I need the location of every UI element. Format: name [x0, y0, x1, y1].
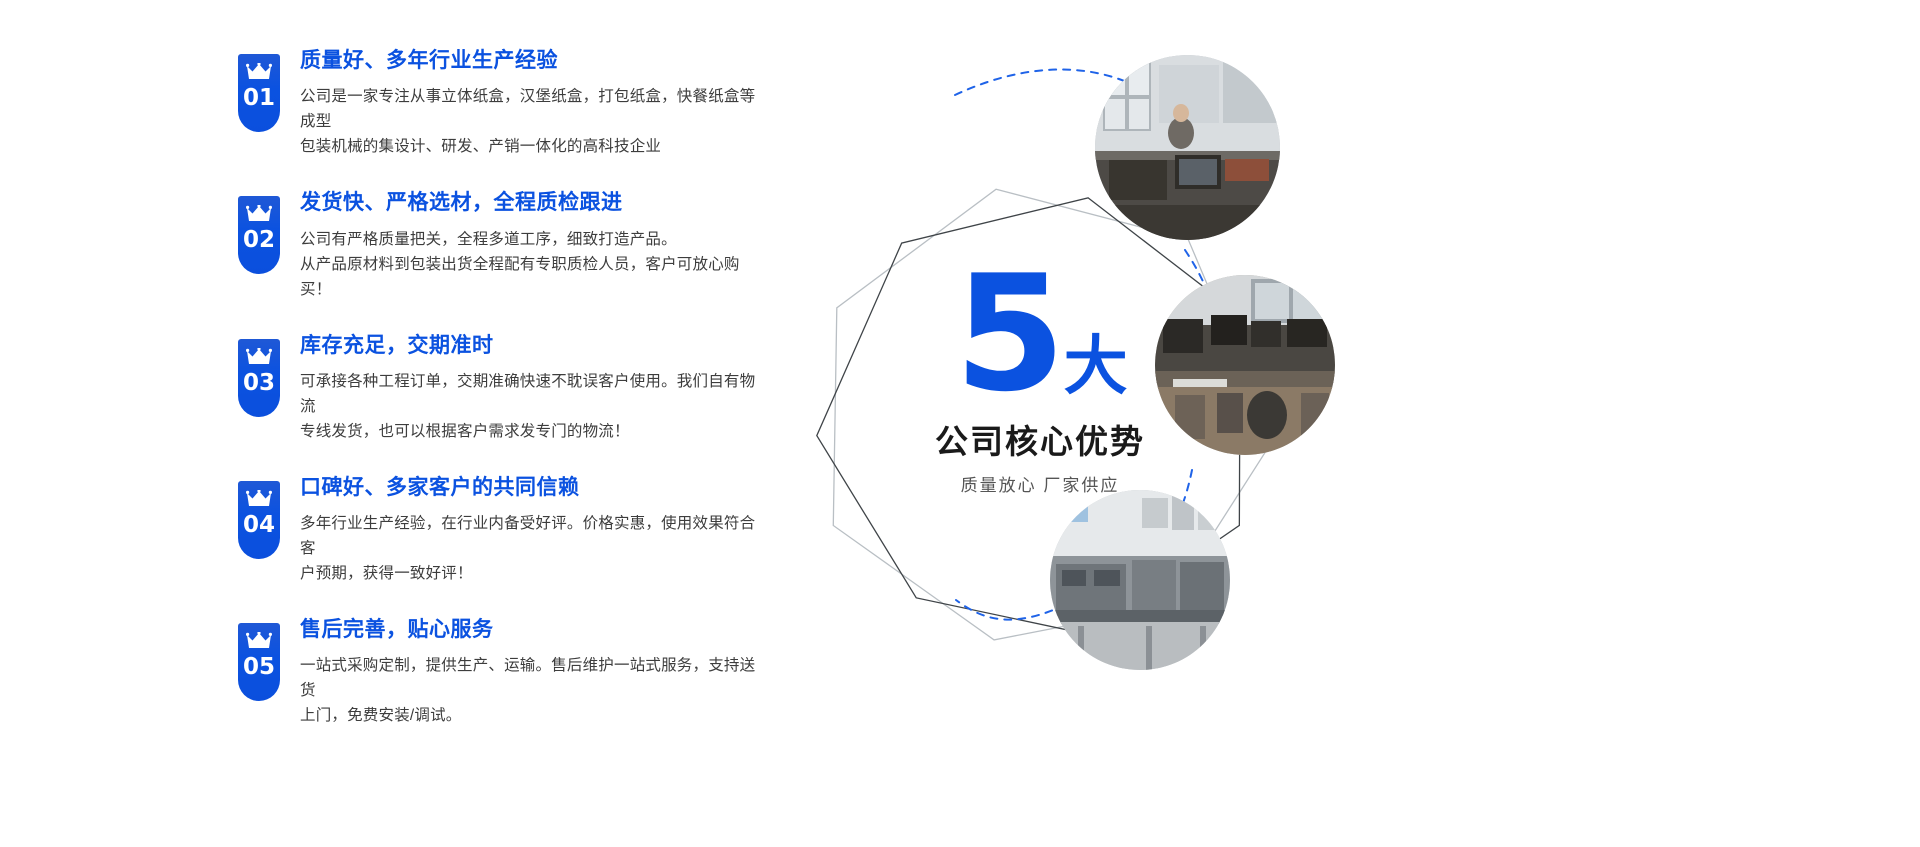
feature-title: 售后完善，贴心服务 — [300, 617, 778, 643]
badge-04: 04 — [238, 481, 280, 559]
feature-body-line-1: 一站式采购定制，提供生产、运输。售后维护一站式服务，支持送货 — [300, 653, 770, 703]
feature-body-line-2: 上门，免费安装/调试。 — [300, 703, 770, 728]
feature-body-line-1: 公司是一家专注从事立体纸盒，汉堡纸盒，打包纸盒，快餐纸盒等成型 — [300, 84, 770, 134]
photo-scene — [1155, 275, 1335, 455]
feature-body-line-2: 从产品原材料到包装出货全程配有专职质检人员，客户可放心购买！ — [300, 252, 770, 302]
feature-body: 公司有严格质量把关，全程多道工序，细致打造产品。 从产品原材料到包装出货全程配有… — [300, 227, 770, 302]
feature-title: 质量好、多年行业生产经验 — [300, 48, 778, 74]
crown-icon — [246, 205, 272, 223]
feature-body: 可承接各种工程订单，交期准确快速不耽误客户使用。我们自有物流 专线发货，也可以根… — [300, 369, 770, 444]
feature-body-line-1: 可承接各种工程订单，交期准确快速不耽误客户使用。我们自有物流 — [300, 369, 770, 419]
badge-number: 04 — [243, 514, 275, 537]
badge-05: 05 — [238, 623, 280, 701]
feature-body-line-2: 包装机械的集设计、研发、产销一体化的高科技企业 — [300, 134, 770, 159]
feature-title: 发货快、严格选材，全程质检跟进 — [300, 190, 778, 216]
feature-body-line-1: 公司有严格质量把关，全程多道工序，细致打造产品。 — [300, 227, 770, 252]
badge-number: 03 — [243, 372, 275, 395]
badge-01: 01 — [238, 54, 280, 132]
feature-title: 库存充足，交期准时 — [300, 333, 778, 359]
feature-item-05: 05 售后完善，贴心服务 一站式采购定制，提供生产、运输。售后维护一站式服务，支… — [238, 617, 778, 728]
dash-arc-bottom — [956, 600, 1065, 620]
feature-body-line-2: 专线发货，也可以根据客户需求发专门的物流！ — [300, 419, 770, 444]
crown-icon — [246, 63, 272, 81]
badge-number: 02 — [243, 229, 275, 252]
hero-graphic: 5 大 公司核心优势 质量放心 厂家供应 — [780, 0, 1920, 847]
badge-number: 05 — [243, 656, 275, 679]
badge-02: 02 — [238, 196, 280, 274]
feature-item-02: 02 发货快、严格选材，全程质检跟进 公司有严格质量把关，全程多道工序，细致打造… — [238, 190, 778, 301]
crown-icon — [246, 348, 272, 366]
feature-body: 公司是一家专注从事立体纸盒，汉堡纸盒，打包纸盒，快餐纸盒等成型 包装机械的集设计… — [300, 84, 770, 159]
feature-item-04: 04 口碑好、多家客户的共同信赖 多年行业生产经验，在行业内备受好评。价格实惠，… — [238, 475, 778, 586]
feature-title: 口碑好、多家客户的共同信赖 — [300, 475, 778, 501]
feature-item-01: 01 质量好、多年行业生产经验 公司是一家专注从事立体纸盒，汉堡纸盒，打包纸盒，… — [238, 48, 778, 159]
promo-banner: 01 质量好、多年行业生产经验 公司是一家专注从事立体纸盒，汉堡纸盒，打包纸盒，… — [0, 0, 1920, 847]
photo-scene — [1050, 490, 1230, 670]
machinery-production-line-photo — [1050, 490, 1230, 670]
office-workstation-photo — [1095, 55, 1280, 240]
big-number: 5 — [954, 264, 1061, 404]
feature-body: 多年行业生产经验，在行业内备受好评。价格实惠，使用效果符合客 户预期，获得一致好… — [300, 511, 770, 586]
feature-body-line-2: 户预期，获得一致好评！ — [300, 561, 770, 586]
big-unit: 大 — [1064, 334, 1128, 398]
feature-body: 一站式采购定制，提供生产、运输。售后维护一站式服务，支持送货 上门，免费安装/调… — [300, 653, 770, 728]
feature-body-line-1: 多年行业生产经验，在行业内备受好评。价格实惠，使用效果符合客 — [300, 511, 770, 561]
feature-list: 01 质量好、多年行业生产经验 公司是一家专注从事立体纸盒，汉堡纸盒，打包纸盒，… — [238, 48, 778, 808]
crown-icon — [246, 632, 272, 650]
office-desks-photo — [1155, 275, 1335, 455]
feature-item-03: 03 库存充足，交期准时 可承接各种工程订单，交期准确快速不耽误客户使用。我们自… — [238, 333, 778, 444]
crown-icon — [246, 490, 272, 508]
badge-number: 01 — [243, 87, 275, 110]
photo-scene — [1095, 55, 1280, 240]
badge-03: 03 — [238, 339, 280, 417]
